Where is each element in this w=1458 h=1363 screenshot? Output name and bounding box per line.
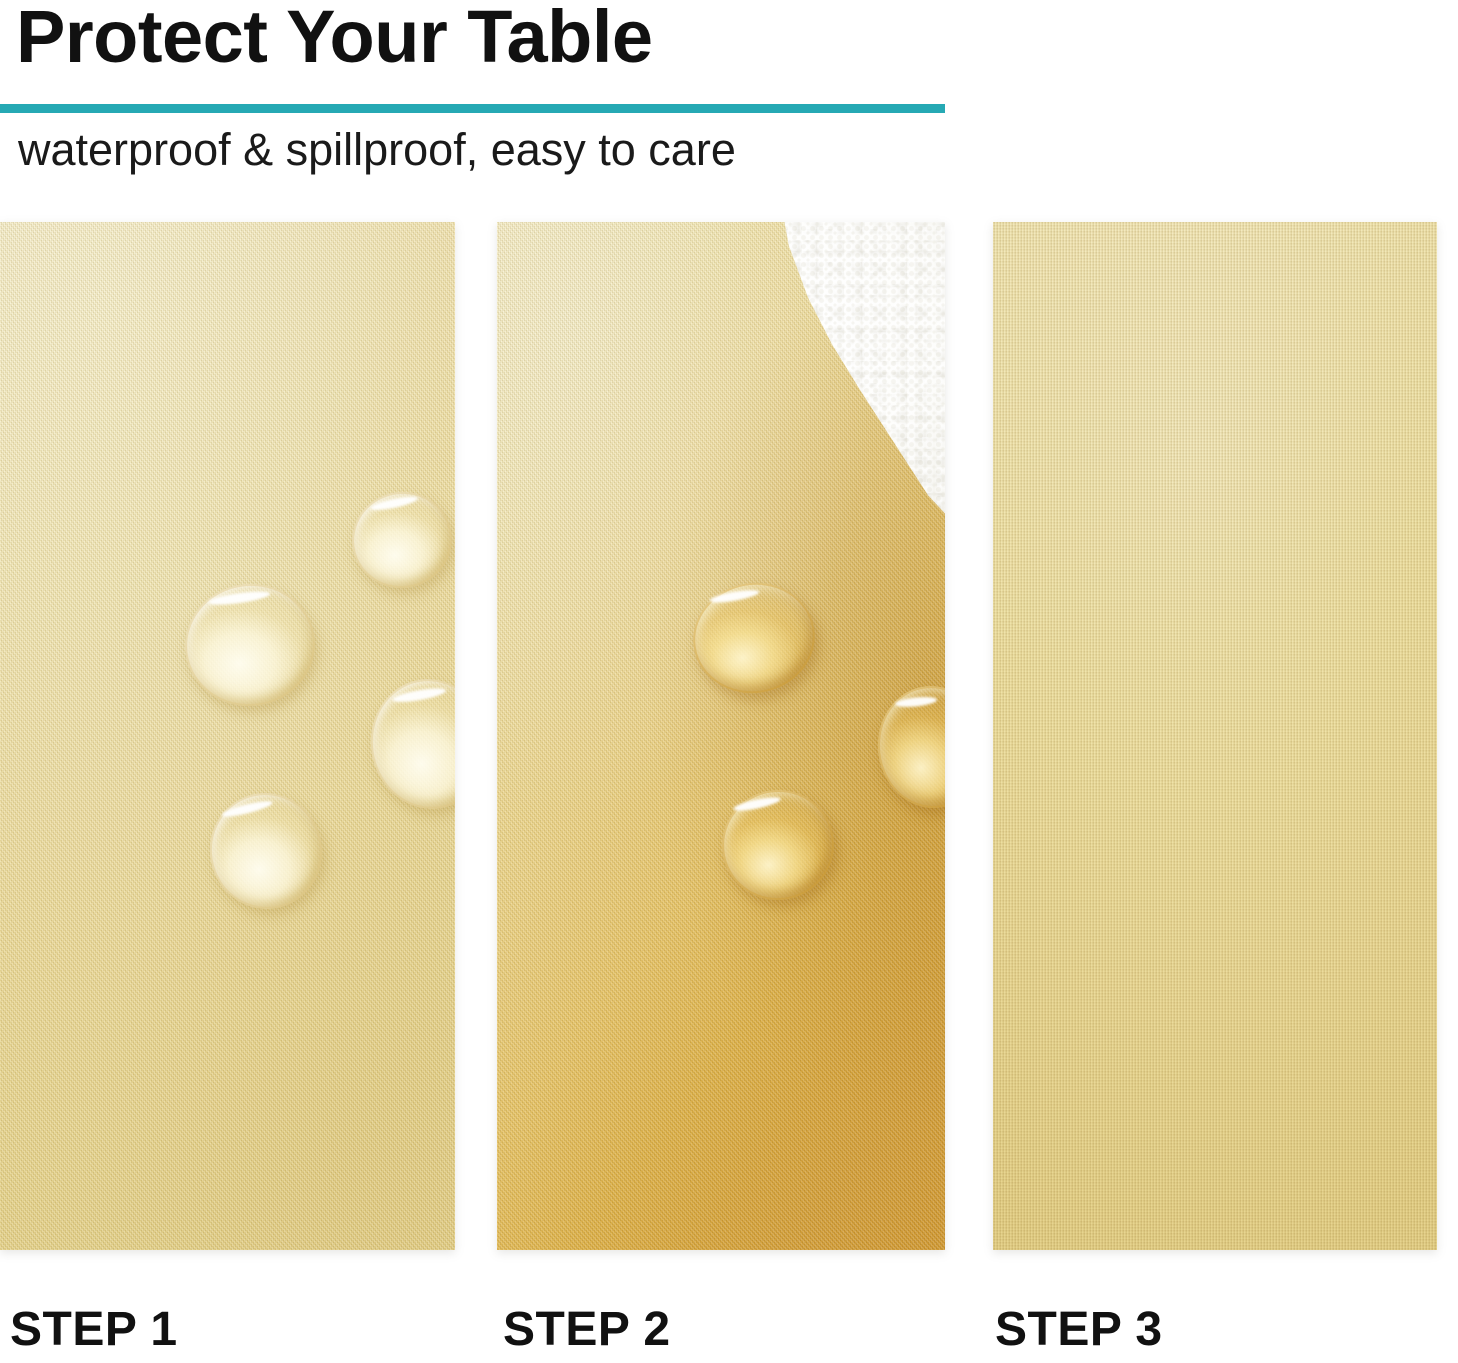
step-2-image-panel [497,222,945,1250]
step-1-image-panel [0,222,455,1250]
step-2-label: STEP 2 [503,1302,671,1357]
fabric-weave-texture-3 [993,222,1437,1250]
page-title: Protect Your Table [16,0,653,77]
step-3-image-panel [993,222,1437,1250]
page-subtitle: waterproof & spillproof, easy to care [18,124,736,176]
title-divider-rule [0,104,945,113]
step-1-label: STEP 1 [10,1302,178,1357]
step-3-label: STEP 3 [995,1302,1163,1357]
